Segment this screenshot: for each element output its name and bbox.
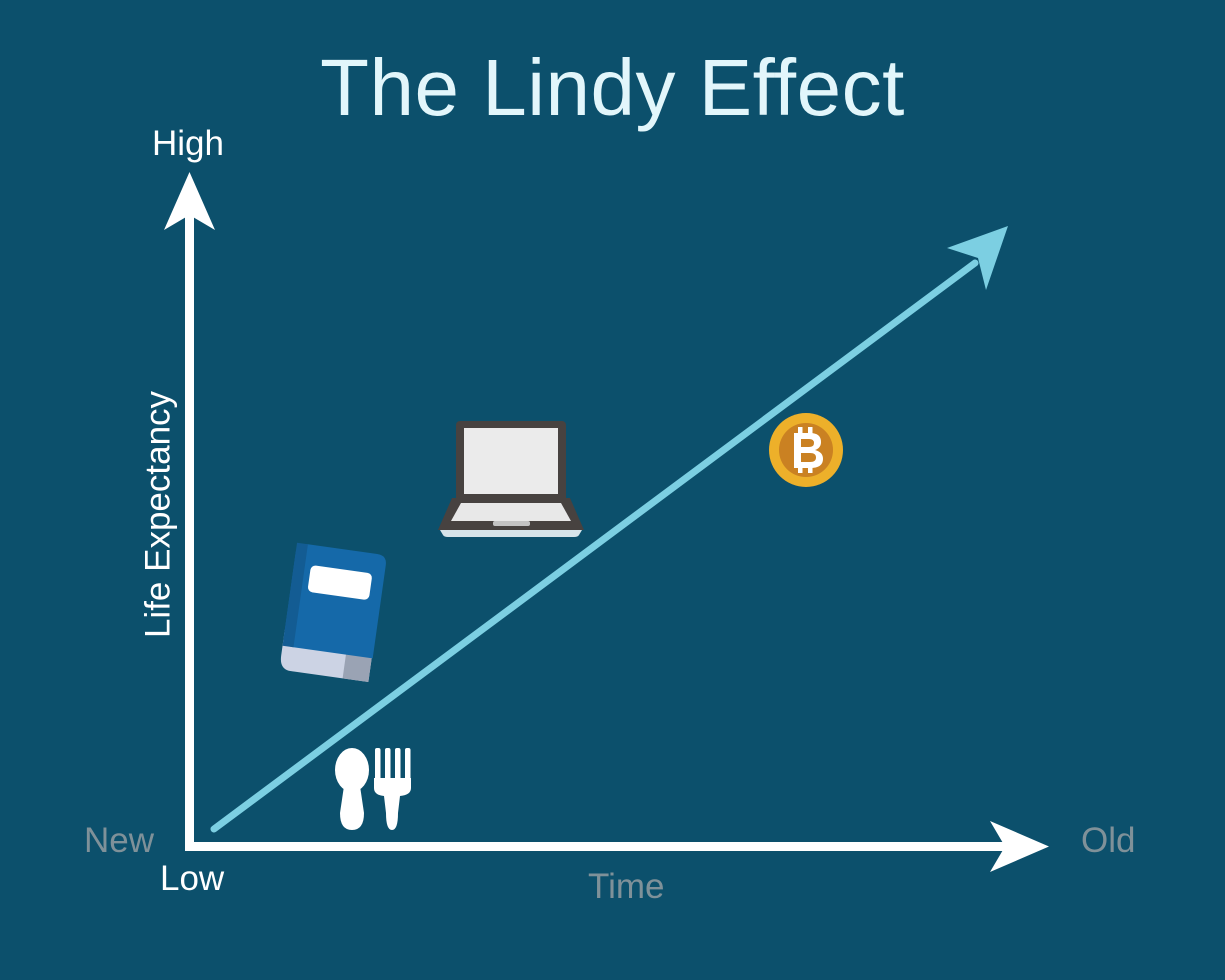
page-title: The Lindy Effect [0, 48, 1225, 128]
x-axis-old-label: Old [1081, 823, 1135, 858]
y-axis-title: Life Expectancy [141, 355, 176, 675]
y-axis-low-label: Low [160, 861, 224, 896]
y-axis-high-label: High [152, 126, 224, 161]
x-axis-new-label: New [84, 823, 154, 858]
chart-canvas: The Lindy Effect High Low Life Expectanc… [0, 0, 1225, 980]
x-axis-title: Time [588, 869, 664, 904]
